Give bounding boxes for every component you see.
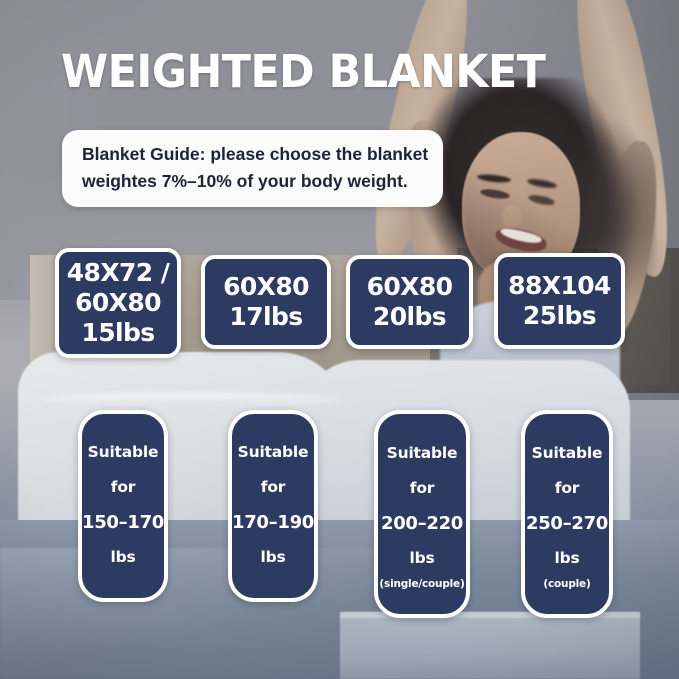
weight-card-line: Suitable — [238, 444, 309, 461]
weight-card-line: for — [261, 479, 285, 496]
weight-card: Suitable for 250–270 lbs (couple) — [521, 410, 613, 618]
size-card-line: 60X80 — [223, 272, 309, 302]
weight-card: Suitable for 170–190 lbs — [228, 410, 318, 602]
weight-card-range: 170–190 — [232, 514, 314, 531]
product-infographic: WEIGHTED BLANKET Blanket Guide: please c… — [0, 0, 679, 679]
weight-card-unit: lbs — [554, 550, 579, 567]
weight-card: Suitable for 200–220 lbs (single/couple) — [374, 410, 470, 618]
guide-line-1: Blanket Guide: please choose the blanket — [82, 141, 425, 168]
pillow-seam — [40, 392, 340, 408]
size-card-line: 88X104 — [508, 271, 611, 301]
weight-card-line: Suitable — [88, 444, 159, 461]
weight-card-range: 150–170 — [82, 514, 164, 531]
weight-card-line: for — [555, 480, 579, 497]
blanket-guide-callout: Blanket Guide: please choose the blanket… — [62, 130, 443, 207]
guide-line-2: weightes 7%–10% of your body weight. — [82, 168, 425, 195]
weight-card-range: 250–270 — [526, 515, 608, 532]
size-card: 60X80 17lbs — [201, 255, 331, 349]
size-card: 48X72 / 60X80 15lbs — [55, 248, 181, 358]
weight-card-unit: lbs — [260, 549, 285, 566]
size-card-line: 60X80 — [75, 288, 161, 318]
size-card-line: 15lbs — [81, 318, 154, 348]
size-card-line: 60X80 — [367, 272, 453, 302]
laptop — [340, 612, 640, 679]
size-card: 88X104 25lbs — [494, 253, 625, 349]
weight-card-note: (single/couple) — [379, 578, 464, 590]
size-card-line: 25lbs — [523, 301, 596, 331]
weight-card-line: Suitable — [387, 445, 458, 462]
size-card: 60X80 20lbs — [346, 255, 473, 349]
weight-card-line: for — [410, 480, 434, 497]
weight-card-unit: lbs — [409, 550, 434, 567]
weight-card-note: (couple) — [543, 578, 590, 590]
size-card-line: 17lbs — [229, 302, 302, 332]
weight-card-range: 200–220 — [381, 515, 463, 532]
weight-card-unit: lbs — [110, 549, 135, 566]
page-title: WEIGHTED BLANKET — [61, 48, 545, 96]
size-card-line: 20lbs — [373, 302, 446, 332]
size-card-line: 48X72 / — [67, 258, 170, 288]
weight-card: Suitable for 150–170 lbs — [78, 410, 168, 602]
weight-card-line: Suitable — [532, 445, 603, 462]
weight-card-line: for — [111, 479, 135, 496]
